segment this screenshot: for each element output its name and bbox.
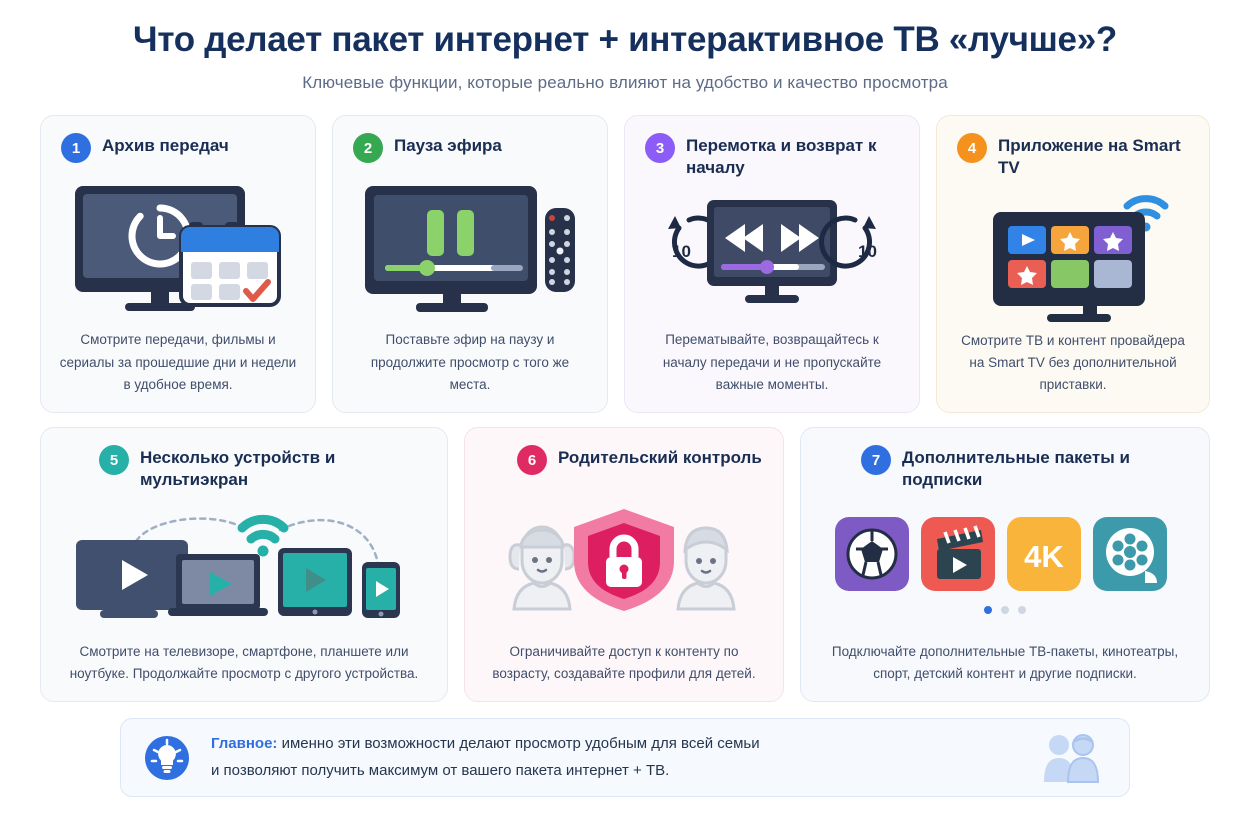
fourk-tile: 4K xyxy=(1007,517,1081,591)
card-title: Несколько устройств и мультиэкран xyxy=(140,444,431,490)
summary-banner: Главное: именно эти возможности делают п… xyxy=(120,718,1130,797)
card-smart-tv[interactable]: 4 Приложение на Smart TV xyxy=(936,115,1210,413)
card-caption: Поставьте эфир на паузу и продолжите про… xyxy=(349,329,591,400)
content-packages-icon: 4K xyxy=(817,490,1193,641)
boy-avatar-icon xyxy=(678,528,734,609)
card-multiscreen[interactable]: 5 Несколько устройств и мультиэкран xyxy=(40,427,448,702)
card-archive[interactable]: 1 Архив передач xyxy=(40,115,316,413)
card-packages[interactable]: 7 Дополнительные пакеты и подписки xyxy=(800,427,1210,702)
card-caption: Смотрите ТВ и контент провайдера на Smar… xyxy=(953,330,1193,401)
card-title: Дополнительные пакеты и подписки xyxy=(902,444,1193,490)
laptop-device-icon xyxy=(168,554,268,616)
family-people-icon xyxy=(1037,732,1103,784)
tv-pause-remote-icon xyxy=(349,163,591,329)
card-caption: Перематывайте, возвращайтесь к началу пе… xyxy=(641,329,903,400)
tablet-device-icon xyxy=(278,548,352,616)
carousel-dot-2[interactable] xyxy=(1001,606,1009,614)
summary-line-2: и позволяют получить максимум от вашего … xyxy=(211,762,669,779)
svg-text:4K: 4K xyxy=(1024,539,1064,574)
shield-lock-children-icon xyxy=(481,475,767,640)
card-header: 3 Перемотка и возврат к началу xyxy=(641,132,903,178)
card-title: Приложение на Smart TV xyxy=(998,132,1193,178)
lightbulb-icon xyxy=(143,734,191,782)
card-parental-control[interactable]: 6 Родительский контроль xyxy=(464,427,784,702)
page-subtitle: Ключевые функции, которые реально влияют… xyxy=(40,73,1210,93)
card-title: Родительский контроль xyxy=(558,444,762,468)
card-title: Перемотка и возврат к началу xyxy=(686,132,903,178)
card-caption: Смотрите передачи, фильмы и сериалы за п… xyxy=(57,329,299,400)
card-caption: Ограничивайте доступ к контенту по возра… xyxy=(481,641,767,690)
film-reel-tile xyxy=(1093,517,1167,591)
card-pause[interactable]: 2 Пауза эфира xyxy=(332,115,608,413)
summary-line-1: именно эти возможности делают просмотр у… xyxy=(277,735,759,752)
header: Что делает пакет интернет + интерактивно… xyxy=(40,14,1210,93)
shield-lock-icon xyxy=(574,509,674,611)
cards-row-bottom: 5 Несколько устройств и мультиэкран xyxy=(40,427,1210,702)
card-header: 7 Дополнительные пакеты и подписки xyxy=(817,444,1193,490)
card-number-badge: 6 xyxy=(517,445,547,475)
card-number-badge: 5 xyxy=(99,445,129,475)
card-number-badge: 7 xyxy=(861,445,891,475)
card-caption: Смотрите на телевизоре, смартфоне, планш… xyxy=(57,641,431,690)
tv-rewind-forward-icon: 10 10 xyxy=(641,178,903,330)
card-rewind[interactable]: 3 Перемотка и возврат к началу 10 xyxy=(624,115,920,413)
tv-device-icon xyxy=(76,540,188,618)
card-caption: Подключайте дополнительные ТВ-пакеты, ки… xyxy=(817,641,1193,690)
card-number-badge: 2 xyxy=(353,133,383,163)
carousel-dots[interactable] xyxy=(984,606,1026,614)
girl-avatar-icon xyxy=(510,527,574,609)
summary-label: Главное: xyxy=(211,735,277,752)
carousel-dot-3[interactable] xyxy=(1018,606,1026,614)
card-number-badge: 3 xyxy=(645,133,675,163)
card-header: 2 Пауза эфира xyxy=(349,132,591,163)
card-number-badge: 4 xyxy=(957,133,987,163)
infographic-page: Что делает пакет интернет + интерактивно… xyxy=(0,0,1250,833)
wifi-icon xyxy=(242,520,284,557)
cards-row-top: 1 Архив передач xyxy=(40,115,1210,413)
card-title: Пауза эфира xyxy=(394,132,502,156)
card-header: 6 Родительский контроль xyxy=(481,444,767,475)
card-header: 1 Архив передач xyxy=(57,132,299,163)
svg-text:10: 10 xyxy=(858,242,877,261)
multi-device-icon xyxy=(57,490,431,641)
page-title: Что делает пакет интернет + интерактивно… xyxy=(40,14,1210,60)
phone-device-icon xyxy=(362,562,400,618)
summary-text: Главное: именно эти возможности делают п… xyxy=(211,731,1017,784)
card-number-badge: 1 xyxy=(61,133,91,163)
carousel-dot-1[interactable] xyxy=(984,606,992,614)
smart-tv-apps-icon xyxy=(953,178,1193,330)
card-header: 5 Несколько устройств и мультиэкран xyxy=(57,444,431,490)
soccer-ball-tile xyxy=(835,517,909,591)
tv-clock-calendar-icon xyxy=(57,163,299,329)
card-title: Архив передач xyxy=(102,132,229,156)
card-header: 4 Приложение на Smart TV xyxy=(953,132,1193,178)
svg-text:10: 10 xyxy=(672,242,691,261)
clapperboard-tile xyxy=(921,517,995,591)
